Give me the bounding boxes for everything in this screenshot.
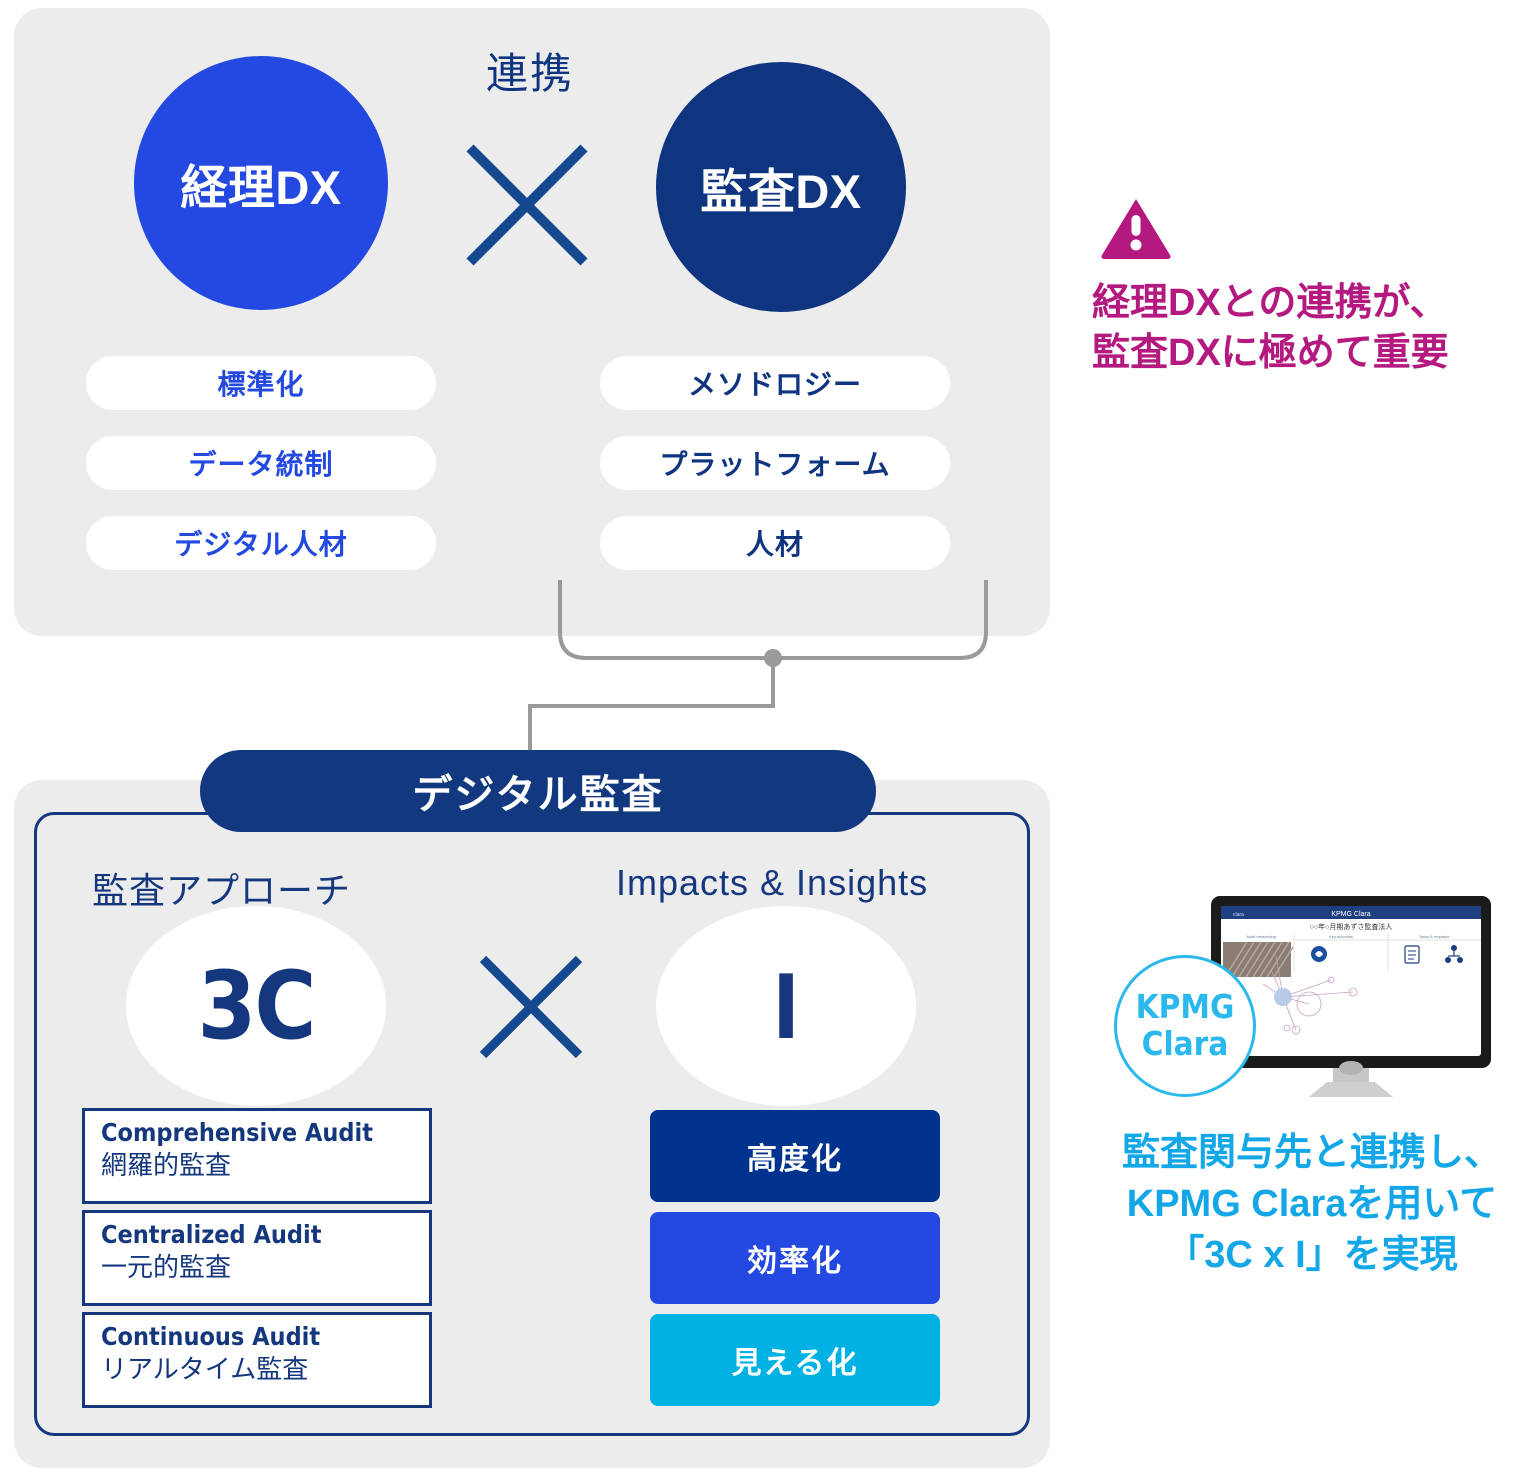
- kpmg-clara-graphic: KPMG Clara clara ○○年○月期あずさ監査法人 Key accou…: [1096, 890, 1516, 1110]
- impact-box-efficiency[interactable]: 効率化: [650, 1212, 940, 1304]
- warning-triangle-icon: [1100, 196, 1172, 260]
- audit-box-continuous-ja: リアルタイム監査: [101, 1354, 429, 1385]
- pill-left-2-label: データ統制: [188, 443, 333, 483]
- pill-right-3-label: 人材: [746, 523, 804, 563]
- impact-box-efficiency-label: 効率化: [747, 1236, 843, 1280]
- warning-annotation-line2: 監査DXに極めて重要: [1092, 328, 1530, 378]
- digital-audit-tab: デジタル監査: [200, 750, 876, 832]
- kpmg-clara-badge-line1: KPMG: [1136, 989, 1235, 1026]
- audit-box-centralized-ja: 一元的監査: [101, 1252, 429, 1283]
- svg-text:KPMG Clara: KPMG Clara: [1331, 911, 1370, 918]
- impact-box-visualization[interactable]: 見える化: [650, 1314, 940, 1406]
- audit-box-comprehensive-en: Comprehensive Audit: [101, 1119, 429, 1148]
- svg-text:Audit networking: Audit networking: [1246, 934, 1276, 939]
- clara-annotation-text: 監査関与先と連携し、 KPMG Claraを用いて 「3C x I」を実現: [1092, 1128, 1530, 1281]
- pill-right-2-label: プラットフォーム: [659, 443, 890, 483]
- pill-left-1[interactable]: 標準化: [86, 356, 436, 410]
- renkei-label: 連携: [470, 40, 590, 101]
- impacts-symbol-label: I: [773, 952, 799, 1060]
- pill-right-1-label: メソドロジー: [688, 363, 862, 403]
- impact-box-visualization-label: 見える化: [731, 1338, 858, 1382]
- circle-keiri-dx-label: 経理DX: [180, 149, 341, 218]
- kpmg-clara-badge: KPMG Clara: [1114, 955, 1256, 1097]
- kpmg-clara-badge-line2: Clara: [1142, 1026, 1229, 1063]
- impact-box-advancement-label: 高度化: [747, 1134, 843, 1178]
- audit-box-comprehensive[interactable]: Comprehensive Audit 網羅的監査: [82, 1108, 432, 1204]
- connector-node-top: [764, 649, 782, 667]
- clara-annotation-line3: 「3C x I」を実現: [1092, 1230, 1530, 1281]
- impacts-symbol-circle: I: [656, 906, 916, 1106]
- svg-text:Tasks & requests: Tasks & requests: [1419, 934, 1449, 939]
- warning-annotation-text: 経理DXとの連携が、 監査DXに極めて重要: [1092, 278, 1530, 378]
- impacts-insights-heading: Impacts & Insights: [616, 862, 928, 904]
- pill-right-1[interactable]: メソドロジー: [600, 356, 950, 410]
- impact-box-advancement[interactable]: 高度化: [650, 1110, 940, 1202]
- approach-symbol-circle: 3C: [126, 906, 386, 1106]
- clara-annotation-line2: KPMG Claraを用いて: [1092, 1179, 1530, 1230]
- svg-text:clara: clara: [1233, 912, 1244, 918]
- svg-text:Key accounts: Key accounts: [1329, 934, 1353, 939]
- circle-kansa-dx: 監査DX: [656, 62, 906, 312]
- pill-left-3-label: デジタル人材: [174, 523, 347, 563]
- circle-kansa-dx-label: 監査DX: [700, 153, 861, 222]
- audit-box-continuous-en: Continuous Audit: [101, 1323, 429, 1352]
- audit-box-centralized[interactable]: Centralized Audit 一元的監査: [82, 1210, 432, 1306]
- circle-keiri-dx: 経理DX: [134, 56, 388, 310]
- digital-audit-tab-label: デジタル監査: [412, 762, 663, 820]
- pill-left-2[interactable]: データ統制: [86, 436, 436, 490]
- pill-left-1-label: 標準化: [217, 363, 304, 403]
- audit-box-comprehensive-ja: 網羅的監査: [101, 1150, 429, 1181]
- warning-annotation-line1: 経理DXとの連携が、: [1092, 278, 1530, 328]
- audit-approach-heading: 監査アプローチ: [92, 862, 351, 914]
- approach-symbol-label: 3C: [198, 952, 315, 1061]
- clara-annotation-line1: 監査関与先と連携し、: [1092, 1128, 1530, 1179]
- audit-box-continuous[interactable]: Continuous Audit リアルタイム監査: [82, 1312, 432, 1408]
- audit-box-centralized-en: Centralized Audit: [101, 1221, 429, 1250]
- svg-text:○○年○月期あずさ監査法人: ○○年○月期あずさ監査法人: [1310, 922, 1393, 931]
- pill-right-2[interactable]: プラットフォーム: [600, 436, 950, 490]
